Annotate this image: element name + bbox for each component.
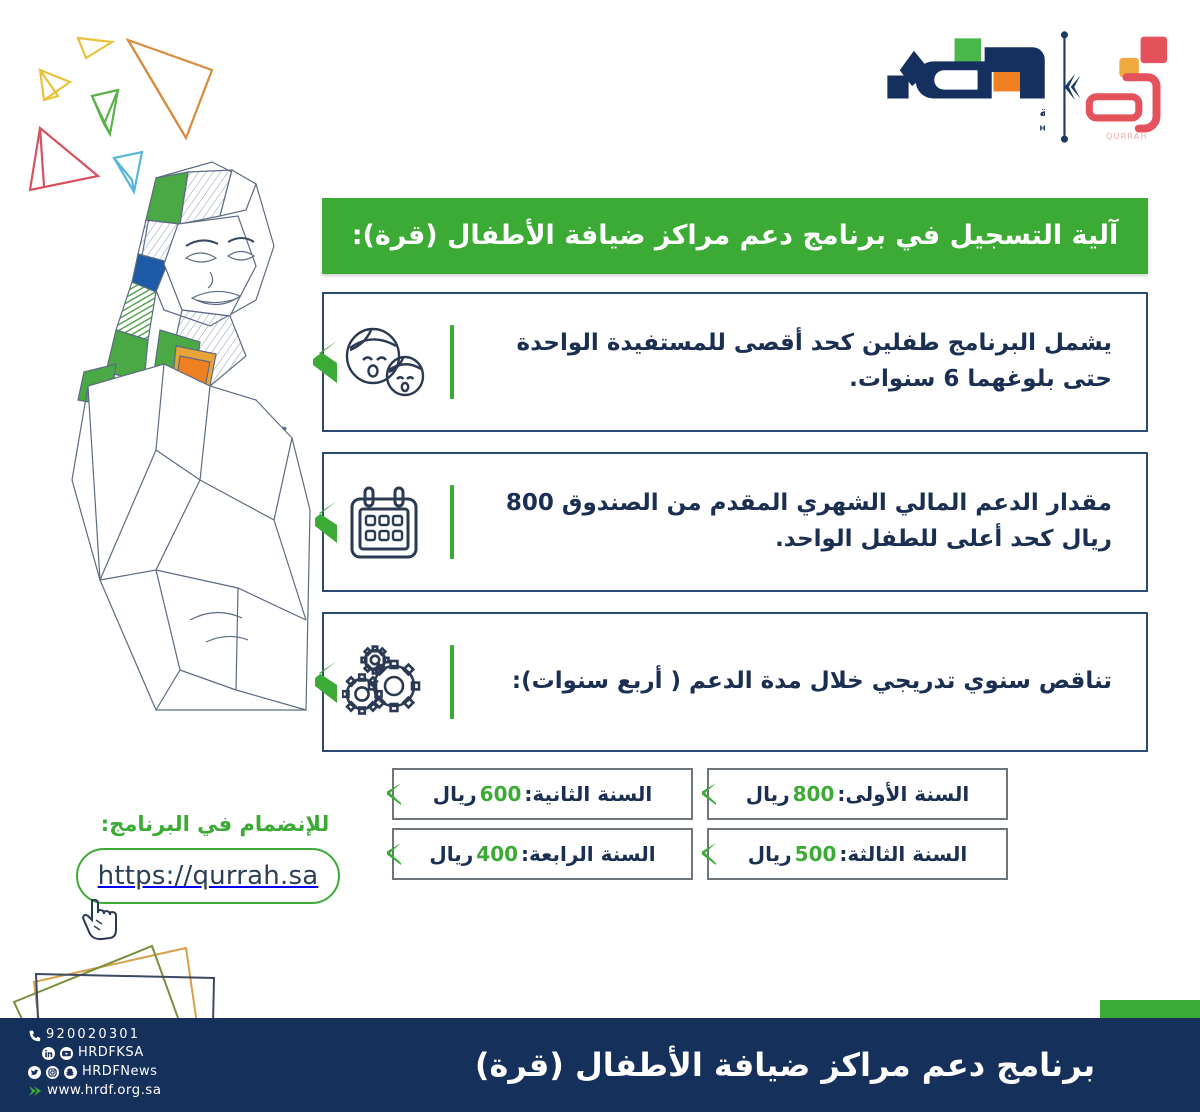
info-card-decrease-text: تناقص سنوي تدريجي خلال مدة الدعم ( أربع … <box>454 664 1146 700</box>
svg-text:HUMAN RESOURCES DEVELOPMENT FU: HUMAN RESOURCES DEVELOPMENT FUND <box>1039 123 1044 132</box>
year-box-1: السنة الأولى: 800 ريال <box>707 768 1008 820</box>
year-box-1-currency: ريال <box>746 782 790 806</box>
info-card-children: يشمل البرنامج طفلين كحد أقصى للمستفيدة ا… <box>322 292 1148 432</box>
info-card-amount: مقدار الدعم المالي الشهري المقدم من الصن… <box>322 452 1148 592</box>
year-box-4-currency: ريال <box>429 842 473 866</box>
qurrah-url-text: https://qurrah.sa <box>98 861 319 891</box>
year-box-3-label: السنة الثالثة: <box>839 842 967 866</box>
infographic-root: QURRAH صندوق تنمية الموارد البشرية HUMAN… <box>0 0 1200 1112</box>
svg-text:صندوق تنمية الموارد البشرية: صندوق تنمية الموارد البشرية <box>1039 105 1044 120</box>
hrdf-logo: صندوق تنمية الموارد البشرية HUMAN RESOUR… <box>852 28 1045 146</box>
logo-separator-icon <box>1045 22 1084 152</box>
info-card-amount-text: مقدار الدعم المالي الشهري المقدم من الصن… <box>454 486 1146 557</box>
gears-icon <box>324 614 444 750</box>
year-box-2-amount: 600 <box>477 782 525 806</box>
info-card-decrease: تناقص سنوي تدريجي خلال مدة الدعم ( أربع … <box>322 612 1148 752</box>
year-chevron-icon <box>701 782 717 806</box>
calendar-icon <box>324 454 444 590</box>
year-box-4-amount: 400 <box>473 842 521 866</box>
year-box-1-label: السنة الأولى: <box>837 782 969 806</box>
footer-website: www.hrdf.org.sa <box>47 1081 161 1100</box>
footer-handle-1: HRDFKSA <box>78 1044 144 1062</box>
twitter-icon <box>28 1066 41 1079</box>
card-divider <box>450 485 454 559</box>
year-box-1-amount: 800 <box>790 782 838 806</box>
year-chevron-icon <box>386 842 402 866</box>
two-children-faces-icon <box>324 294 444 430</box>
page-title: آلية التسجيل في برنامج دعم مراكز ضيافة ا… <box>352 220 1119 252</box>
card-divider <box>450 645 454 719</box>
join-program-label: للإنضمام في البرنامج: <box>100 812 330 836</box>
card-chevron-icon <box>311 659 339 705</box>
qurrah-logo: QURRAH <box>1084 24 1188 150</box>
year-box-4-label: السنة الرابعة: <box>521 842 656 866</box>
green-arrow-icon <box>28 1085 42 1097</box>
header-banner: آلية التسجيل في برنامج دعم مراكز ضيافة ا… <box>322 198 1148 274</box>
year-amounts-grid: السنة الأولى: 800 ريال السنة الثانية: 60… <box>392 768 1008 880</box>
footer-program-title: برنامج دعم مراكز ضيافة الأطفال (قرة) <box>400 1018 1170 1112</box>
year-box-3: السنة الثالثة: 500 ريال <box>707 828 1008 880</box>
snapchat-icon <box>64 1066 77 1079</box>
year-box-3-amount: 500 <box>792 842 840 866</box>
footer-website-line[interactable]: www.hrdf.org.sa <box>28 1081 258 1100</box>
svg-text:QURRAH: QURRAH <box>1106 132 1148 141</box>
year-box-3-currency: ريال <box>748 842 792 866</box>
hand-cursor-icon <box>80 896 120 942</box>
logo-row: QURRAH صندوق تنمية الموارد البشرية HUMAN… <box>852 22 1188 152</box>
card-chevron-icon <box>311 499 339 545</box>
info-card-children-text: يشمل البرنامج طفلين كحد أقصى للمستفيدة ا… <box>454 326 1146 397</box>
card-divider <box>450 325 454 399</box>
card-chevron-icon <box>311 339 339 385</box>
year-chevron-icon <box>701 842 717 866</box>
phone-icon <box>28 1029 41 1042</box>
footer-phone-number: 920020301 <box>46 1026 140 1044</box>
linkedin-icon <box>42 1047 55 1060</box>
youtube-icon <box>60 1047 73 1060</box>
footer-phone-line[interactable]: 920020301 <box>28 1026 258 1044</box>
year-box-2-currency: ريال <box>433 782 477 806</box>
footer-contact-block: 920020301 HRDFKSA <box>28 1026 258 1101</box>
year-box-2-label: السنة الثانية: <box>524 782 652 806</box>
footer-handle-line-1[interactable]: HRDFKSA <box>28 1044 258 1062</box>
year-box-2: السنة الثانية: 600 ريال <box>392 768 693 820</box>
year-box-4: السنة الرابعة: 400 ريال <box>392 828 693 880</box>
instagram-icon <box>46 1066 59 1079</box>
footer-handle-line-2[interactable]: HRDFNews <box>28 1063 258 1081</box>
footer-handle-2: HRDFNews <box>82 1063 157 1081</box>
year-chevron-icon <box>386 782 402 806</box>
